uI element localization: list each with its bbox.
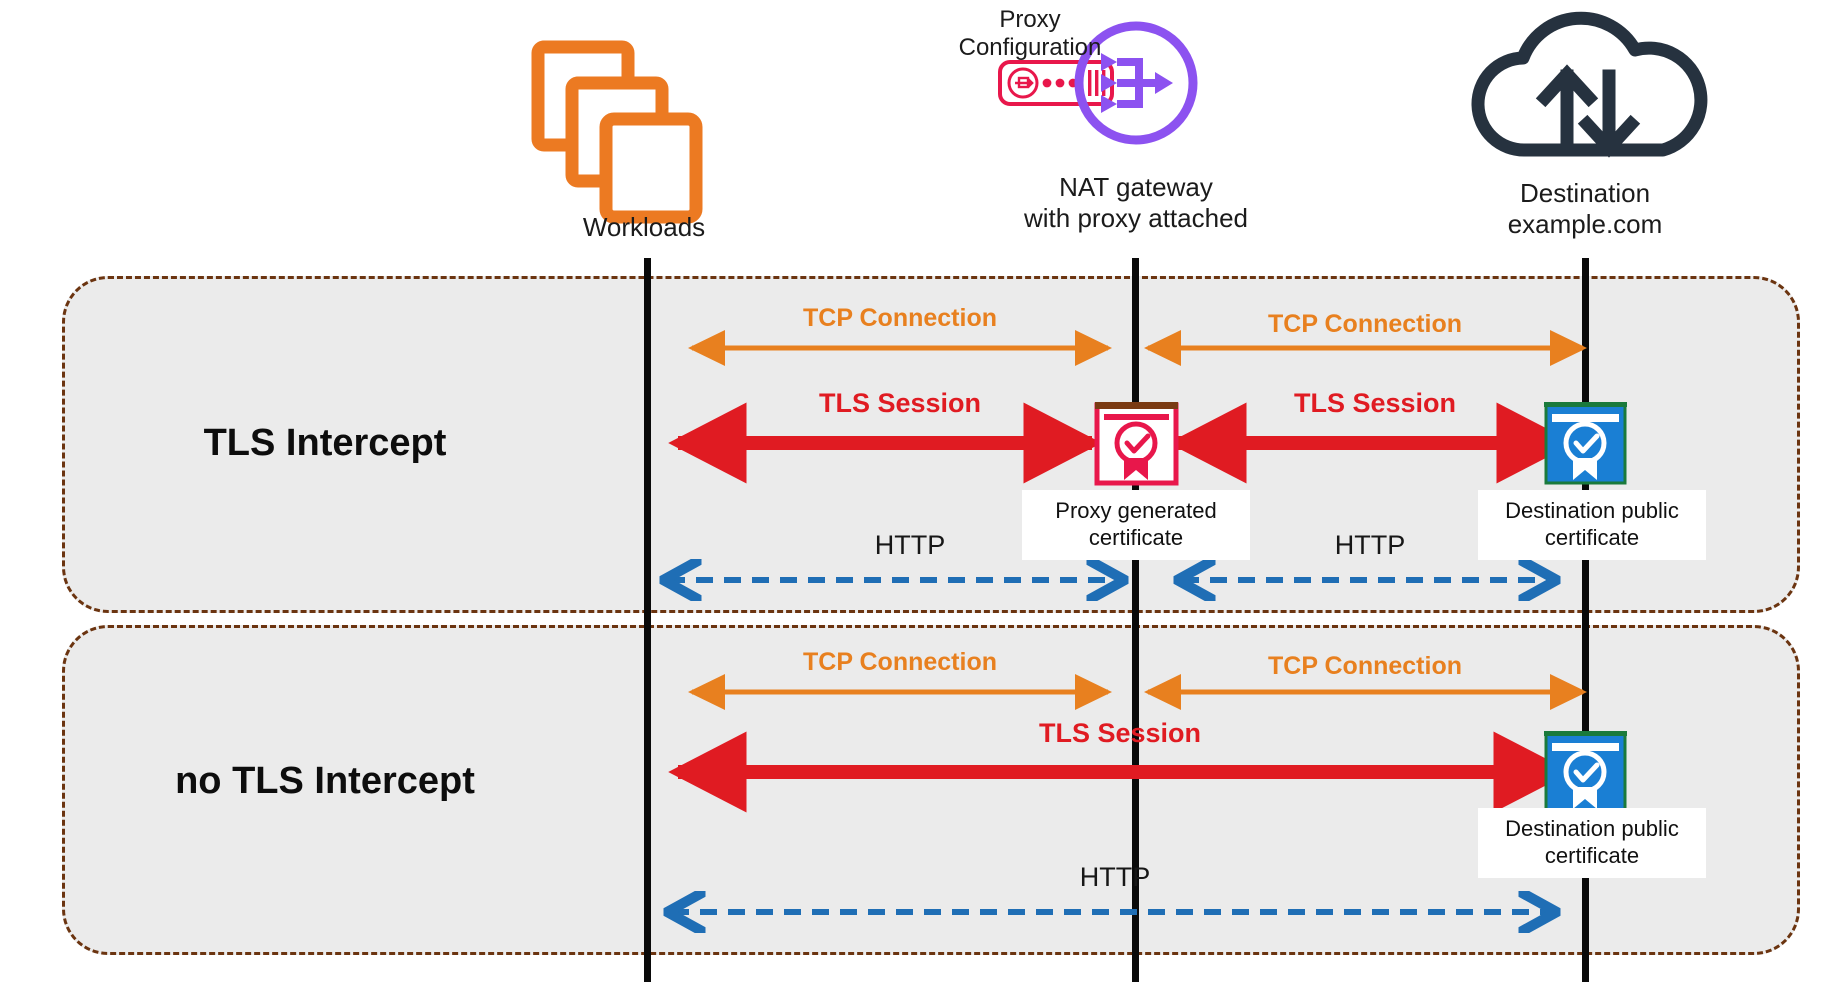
flow-label-tcp-right-panel2: TCP Connection (1165, 652, 1565, 681)
panel-title-no-tls-intercept: no TLS Intercept (110, 760, 540, 803)
node-label-workloads: Workloads (494, 212, 794, 243)
node-label-nat-gateway: NAT gateway with proxy attached (986, 172, 1286, 233)
cert-caption-destination-panel2: Destination public certificate (1478, 808, 1706, 878)
panel-title-tls-intercept: TLS Intercept (110, 422, 540, 465)
cert-caption-destination-panel1: Destination public certificate (1478, 490, 1706, 560)
stacked-documents-icon (538, 47, 696, 217)
flow-label-tls-right-panel1: TLS Session (1175, 388, 1575, 419)
diagram-canvas: Workloads Proxy Configuration NAT gatewa… (0, 0, 1824, 982)
flow-label-http-full-panel2: HTTP (915, 862, 1315, 893)
proxy-configuration-icon (1000, 62, 1112, 104)
cloud-upload-download-icon (1478, 18, 1701, 150)
flow-label-tls-full-panel2: TLS Session (920, 718, 1320, 749)
flow-label-tls-left-panel1: TLS Session (700, 388, 1100, 419)
lifeline-workloads (644, 258, 651, 982)
flow-label-tcp-right-panel1: TCP Connection (1165, 310, 1565, 339)
cert-caption-proxy-generated: Proxy generated certificate (1022, 490, 1250, 560)
flow-label-tcp-left-panel1: TCP Connection (700, 304, 1100, 333)
node-label-destination: Destination example.com (1435, 178, 1735, 239)
flow-label-tcp-left-panel2: TCP Connection (700, 648, 1100, 677)
proxy-configuration-label: Proxy Configuration (930, 6, 1130, 63)
